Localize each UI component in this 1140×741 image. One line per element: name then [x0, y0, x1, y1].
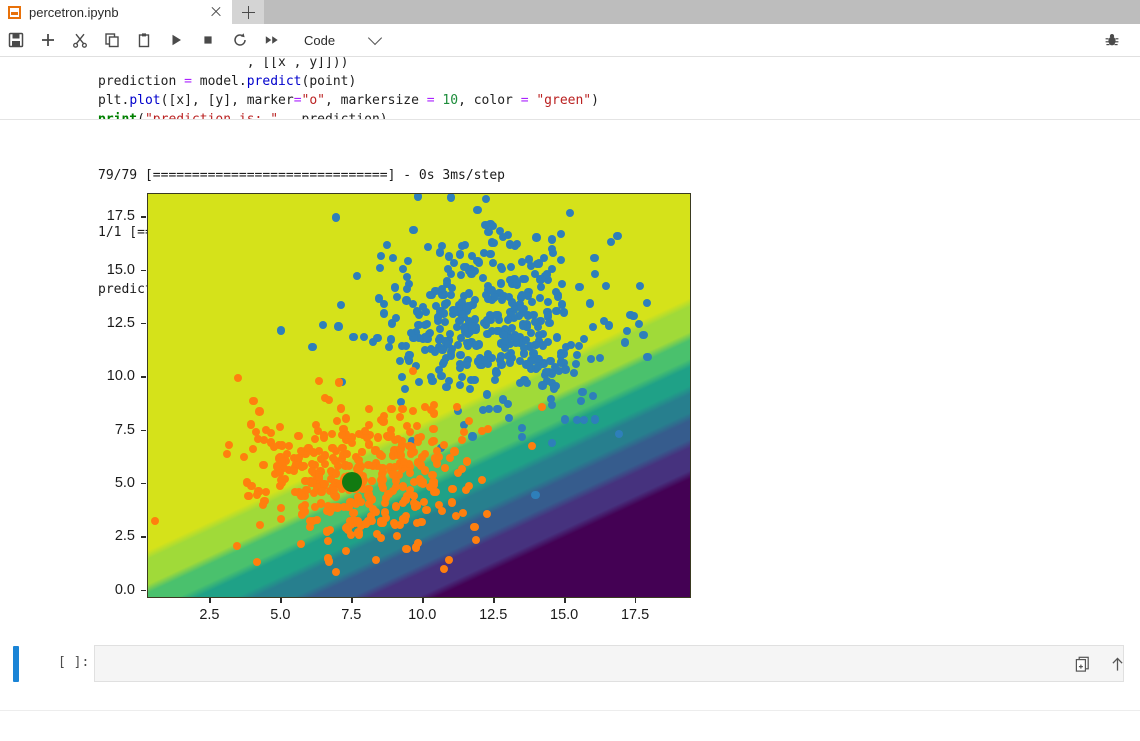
data-point-class-1: [342, 547, 350, 555]
data-point-class-1: [361, 520, 369, 528]
new-tab-button[interactable]: [232, 0, 264, 24]
data-point-class-0: [591, 415, 599, 423]
data-point-class-1: [398, 440, 406, 448]
x-tick-label: 7.5: [321, 608, 381, 622]
x-tick-mark: [280, 598, 281, 603]
tab-title: percetron.ipynb: [29, 5, 208, 20]
scissors-icon: [72, 32, 88, 48]
data-point-class-0: [506, 358, 514, 366]
floppy-icon: [8, 32, 24, 48]
data-point-class-0: [447, 291, 455, 299]
decision-boundary-background: [148, 194, 690, 597]
data-point-class-1: [387, 405, 395, 413]
data-point-class-1: [377, 416, 385, 424]
data-point-class-0: [360, 333, 368, 341]
data-point-class-0: [504, 316, 512, 324]
empty-code-cell[interactable]: [ ]:: [0, 642, 1140, 684]
duplicate-cell-button[interactable]: [1074, 654, 1092, 674]
code-cell-source[interactable]: , [[x , y]]))prediction = model.predict(…: [0, 57, 1140, 120]
stop-kernel-button[interactable]: [192, 25, 224, 55]
data-point-class-0: [636, 282, 644, 290]
data-point-class-0: [441, 300, 449, 308]
data-point-class-0: [535, 259, 543, 267]
data-point-class-0: [538, 381, 546, 389]
line-clipped: , [[x , y]])): [98, 57, 348, 72]
data-point-class-0: [486, 311, 494, 319]
data-point-class-0: [349, 333, 357, 341]
data-point-class-0: [380, 309, 388, 317]
plus-icon: [40, 32, 56, 48]
active-cell-indicator: [13, 646, 19, 682]
data-point-class-0: [552, 307, 560, 315]
data-point-class-0: [518, 424, 526, 432]
data-point-class-0: [383, 241, 391, 249]
y-tick-label: 10.0: [71, 369, 135, 383]
data-point-class-0: [487, 354, 495, 362]
data-point-class-1: [259, 501, 267, 509]
data-point-class-0: [544, 298, 552, 306]
data-point-class-0: [489, 222, 497, 230]
data-point-class-0: [590, 254, 598, 262]
data-point-class-1: [285, 442, 293, 450]
data-point-class-1: [294, 454, 302, 462]
data-point-class-1: [325, 557, 333, 565]
data-point-class-0: [629, 312, 637, 320]
data-point-class-0: [643, 353, 651, 361]
notebook-window: percetron.ipynb: [0, 0, 1140, 741]
data-point-class-0: [490, 239, 498, 247]
close-icon[interactable]: [208, 4, 224, 20]
data-point-class-1: [311, 435, 319, 443]
data-point-class-0: [458, 373, 466, 381]
y-tick-label: 15.0: [71, 263, 135, 277]
data-point-class-0: [465, 289, 473, 297]
y-tick-mark: [141, 483, 146, 484]
data-point-class-1: [373, 530, 381, 538]
data-point-class-0: [432, 302, 440, 310]
data-point-class-1: [223, 450, 231, 458]
x-tick-label: 2.5: [179, 608, 239, 622]
data-point-class-0: [499, 331, 507, 339]
data-point-class-0: [353, 272, 361, 280]
data-point-class-0: [426, 291, 434, 299]
data-point-class-1: [429, 425, 437, 433]
play-icon: [168, 32, 184, 48]
data-point-class-1: [406, 486, 414, 494]
figure-canvas: 0.02.55.07.510.012.515.017.5 2.55.07.510…: [60, 187, 740, 687]
cut-cell-button[interactable]: [64, 25, 96, 55]
data-point-class-0: [421, 321, 429, 329]
restart-kernel-button[interactable]: [224, 25, 256, 55]
data-point-class-1: [291, 488, 299, 496]
copy-icon: [104, 32, 120, 48]
data-point-class-0: [483, 330, 491, 338]
x-tick-label: 5.0: [250, 608, 310, 622]
cell-type-label: Code: [304, 33, 335, 48]
data-point-class-1: [255, 407, 263, 415]
data-point-class-0: [404, 257, 412, 265]
move-cell-up-button[interactable]: [1108, 654, 1126, 674]
chevron-down-icon: [368, 31, 382, 45]
data-point-class-0: [456, 381, 464, 389]
data-point-class-1: [355, 430, 363, 438]
x-tick-label: 15.0: [534, 608, 594, 622]
data-point-class-1: [386, 431, 394, 439]
data-point-class-1: [538, 403, 546, 411]
data-point-class-1: [328, 444, 336, 452]
data-point-class-1: [460, 428, 468, 436]
data-point-class-0: [615, 430, 623, 438]
x-tick-label: 17.5: [605, 608, 665, 622]
x-tick-label: 10.0: [392, 608, 452, 622]
data-point-class-1: [528, 442, 536, 450]
data-point-class-0: [534, 362, 542, 370]
clipboard-icon: [136, 32, 152, 48]
run-cell-button[interactable]: [160, 25, 192, 55]
data-point-class-0: [396, 357, 404, 365]
data-point-class-0: [522, 336, 530, 344]
data-point-class-1: [377, 519, 385, 527]
refresh-icon: [232, 32, 248, 48]
data-point-class-1: [270, 443, 278, 451]
data-point-class-1: [344, 503, 352, 511]
data-point-class-0: [473, 206, 481, 214]
data-point-class-0: [431, 347, 439, 355]
data-point-class-0: [319, 321, 327, 329]
data-point-class-0: [589, 323, 597, 331]
y-tick-label: 2.5: [71, 529, 135, 543]
output-line: 79/79 [==============================] -…: [98, 166, 505, 185]
y-tick-label: 12.5: [71, 316, 135, 330]
data-point-class-1: [450, 447, 458, 455]
data-point-class-1: [278, 457, 286, 465]
data-point-class-0: [332, 213, 340, 221]
data-point-class-1: [463, 457, 471, 465]
data-point-class-0: [548, 245, 556, 253]
data-point-class-1: [400, 458, 408, 466]
data-point-class-1: [330, 486, 338, 494]
data-point-class-0: [521, 275, 529, 283]
data-point-class-1: [452, 512, 460, 520]
data-point-class-1: [300, 507, 308, 515]
data-point-class-1: [406, 469, 414, 477]
data-point-class-1: [411, 502, 419, 510]
data-point-class-0: [398, 342, 406, 350]
y-tick-mark: [141, 270, 146, 271]
data-point-class-0: [596, 354, 604, 362]
data-point-class-0: [337, 301, 345, 309]
data-point-class-0: [493, 405, 501, 413]
data-point-class-0: [447, 194, 455, 202]
data-point-class-1: [259, 461, 267, 469]
data-point-class-0: [547, 395, 555, 403]
data-point-class-1: [421, 466, 429, 474]
data-point-class-0: [277, 326, 285, 334]
data-point-class-1: [399, 482, 407, 490]
stop-icon: [200, 32, 216, 48]
data-point-class-1: [448, 485, 456, 493]
data-point-class-0: [474, 357, 482, 365]
data-point-class-0: [497, 360, 505, 368]
x-tick-label: 12.5: [463, 608, 523, 622]
data-point-class-1: [328, 430, 336, 438]
data-point-class-0: [460, 263, 468, 271]
data-point-class-0: [532, 233, 540, 241]
data-point-class-0: [536, 294, 544, 302]
data-point-class-1: [418, 453, 426, 461]
data-point-class-0: [387, 335, 395, 343]
line-1: prediction = model.predict(point): [98, 72, 356, 91]
data-point-class-0: [456, 250, 464, 258]
data-point-class-0: [413, 307, 421, 315]
data-point-class-1: [381, 508, 389, 516]
y-tick-mark: [141, 323, 146, 324]
data-point-class-0: [472, 341, 480, 349]
data-point-class-1: [329, 503, 337, 511]
duplicate-icon: [1075, 656, 1091, 673]
data-point-class-0: [445, 252, 453, 260]
data-point-class-1: [338, 444, 346, 452]
y-tick-label: 5.0: [71, 476, 135, 490]
x-tick-mark: [564, 598, 565, 603]
data-point-class-0: [510, 275, 518, 283]
data-point-class-0: [391, 283, 399, 291]
tab-bar: percetron.ipynb: [0, 0, 1140, 24]
data-point-class-0: [422, 308, 430, 316]
data-point-class-0: [442, 383, 450, 391]
data-point-class-0: [518, 291, 526, 299]
data-point-class-1: [233, 542, 241, 550]
data-point-class-1: [365, 421, 373, 429]
data-point-class-0: [575, 283, 583, 291]
data-point-class-1: [379, 468, 387, 476]
data-point-class-0: [468, 432, 476, 440]
data-point-class-1: [308, 467, 316, 475]
data-point-class-0: [434, 313, 442, 321]
data-point-class-1: [320, 433, 328, 441]
cell-action-buttons: [1074, 654, 1126, 674]
data-point-class-0: [575, 342, 583, 350]
data-point-class-1: [304, 444, 312, 452]
data-point-class-0: [621, 338, 629, 346]
data-point-class-1: [374, 433, 382, 441]
data-point-class-0: [402, 296, 410, 304]
x-tick-mark: [422, 598, 423, 603]
cell-type-select[interactable]: Code: [294, 28, 386, 52]
insert-cell-button[interactable]: [32, 25, 64, 55]
y-tick-mark: [141, 590, 146, 591]
data-point-class-1: [337, 404, 345, 412]
data-point-class-0: [507, 263, 515, 271]
data-point-class-0: [570, 369, 578, 377]
data-point-class-0: [483, 390, 491, 398]
data-point-class-1: [318, 487, 326, 495]
copy-cell-button[interactable]: [96, 25, 128, 55]
data-point-class-0: [586, 299, 594, 307]
data-point-class-0: [566, 209, 574, 217]
data-point-class-0: [546, 357, 554, 365]
data-point-class-0: [497, 352, 505, 360]
data-point-class-1: [379, 484, 387, 492]
data-point-class-0: [561, 415, 569, 423]
data-point-class-0: [414, 194, 422, 201]
x-tick-mark: [351, 598, 352, 603]
data-point-class-1: [483, 510, 491, 518]
x-tick-mark: [635, 598, 636, 603]
data-point-class-1: [332, 568, 340, 576]
data-point-class-1: [470, 523, 478, 531]
data-point-class-1: [354, 528, 362, 536]
data-point-class-0: [497, 263, 505, 271]
data-point-class-0: [375, 294, 383, 302]
y-tick-mark: [141, 376, 146, 377]
data-point-class-1: [376, 450, 384, 458]
data-point-class-1: [342, 524, 350, 532]
data-point-class-0: [498, 296, 506, 304]
x-tick-mark: [493, 598, 494, 603]
y-tick-mark: [141, 536, 146, 537]
cell-input-editor[interactable]: [94, 645, 1124, 682]
fast-forward-icon: [264, 32, 280, 48]
y-tick-label: 7.5: [71, 423, 135, 437]
data-point-class-0: [525, 255, 533, 263]
data-point-class-0: [486, 250, 494, 258]
data-point-class-1: [448, 498, 456, 506]
data-point-class-0: [591, 270, 599, 278]
data-point-class-0: [471, 376, 479, 384]
run-all-button[interactable]: [256, 25, 288, 55]
cell-output-figure: 0.02.55.07.510.012.515.017.5 2.55.07.510…: [60, 187, 740, 687]
data-point-class-0: [482, 195, 490, 203]
data-point-class-0: [463, 339, 471, 347]
data-point-class-0: [492, 369, 500, 377]
data-point-class-1: [433, 459, 441, 467]
data-point-class-1: [335, 378, 343, 386]
save-button[interactable]: [0, 25, 32, 55]
data-point-class-1: [317, 499, 325, 507]
data-point-class-1: [352, 453, 360, 461]
y-tick-label: 0.0: [71, 583, 135, 597]
data-point-class-1: [364, 461, 372, 469]
line-2: plt.plot([x], [y], marker="o", markersiz…: [98, 91, 599, 110]
line-3: print("prediction is: " , prediction): [98, 110, 388, 120]
data-point-class-1: [441, 464, 449, 472]
notebook-icon: [8, 6, 21, 19]
data-point-class-1: [240, 453, 248, 461]
plot-axes: [147, 193, 691, 598]
data-point-class-0: [399, 265, 407, 273]
data-point-class-0: [409, 226, 417, 234]
paste-cell-button[interactable]: [128, 25, 160, 55]
data-point-class-0: [377, 252, 385, 260]
data-point-class-0: [401, 385, 409, 393]
data-point-class-1: [249, 445, 257, 453]
y-tick-mark: [141, 430, 146, 431]
data-point-class-1: [278, 442, 286, 450]
data-point-class-0: [587, 355, 595, 363]
data-point-class-0: [454, 341, 462, 349]
data-point-class-1: [402, 545, 410, 553]
bug-icon: [1104, 32, 1120, 48]
data-point-class-1: [278, 479, 286, 487]
data-point-class-1: [325, 396, 333, 404]
tab-percetron-ipynb[interactable]: percetron.ipynb: [0, 0, 232, 24]
data-point-class-0: [553, 333, 561, 341]
notebook-toolbar: Code: [0, 24, 1140, 57]
data-point-class-1: [315, 377, 323, 385]
data-point-class-1: [417, 518, 425, 526]
data-point-class-0: [560, 309, 568, 317]
data-point-class-1: [422, 506, 430, 514]
data-point-class-1: [247, 420, 255, 428]
data-point-class-0: [548, 439, 556, 447]
data-point-class-1: [372, 508, 380, 516]
data-point-class-0: [456, 351, 464, 359]
y-tick-mark: [141, 216, 146, 217]
data-point-class-0: [639, 331, 647, 339]
data-point-class-1: [342, 414, 350, 422]
arrow-up-icon: [1110, 656, 1125, 673]
data-point-class-1: [332, 469, 340, 477]
data-point-class-1: [244, 492, 252, 500]
plus-icon: [242, 6, 255, 19]
debug-toggle-button[interactable]: [1096, 25, 1128, 55]
y-tick-label: 17.5: [71, 209, 135, 223]
data-point-class-0: [529, 311, 537, 319]
data-point-class-0: [308, 343, 316, 351]
data-point-class-1: [367, 495, 375, 503]
data-point-class-1: [398, 405, 406, 413]
data-point-class-0: [461, 241, 469, 249]
notebook-footer-area: [0, 710, 1140, 741]
data-point-class-0: [529, 349, 537, 357]
data-point-class-0: [544, 338, 552, 346]
data-point-class-0: [613, 232, 621, 240]
data-point-class-0: [548, 235, 556, 243]
data-point-class-0: [561, 365, 569, 373]
data-point-class-0: [475, 258, 483, 266]
notebook-body: , [[x , y]]))prediction = model.predict(…: [0, 57, 1140, 741]
data-point-class-0: [506, 240, 514, 248]
data-point-class-0: [577, 397, 585, 405]
x-tick-mark: [209, 598, 210, 603]
data-point-class-0: [389, 254, 397, 262]
data-point-class-1: [453, 403, 461, 411]
data-point-class-1: [249, 397, 257, 405]
data-point-class-0: [539, 330, 547, 338]
data-point-class-0: [520, 350, 528, 358]
data-point-class-0: [447, 351, 455, 359]
data-point-class-1: [298, 462, 306, 470]
cell-prompt: [ ]:: [58, 655, 89, 670]
data-point-class-0: [489, 259, 497, 267]
plot-area: [148, 194, 690, 597]
data-point-class-0: [578, 388, 586, 396]
data-point-class-0: [334, 322, 342, 330]
data-point-class-1: [338, 431, 346, 439]
data-point-class-0: [449, 306, 457, 314]
